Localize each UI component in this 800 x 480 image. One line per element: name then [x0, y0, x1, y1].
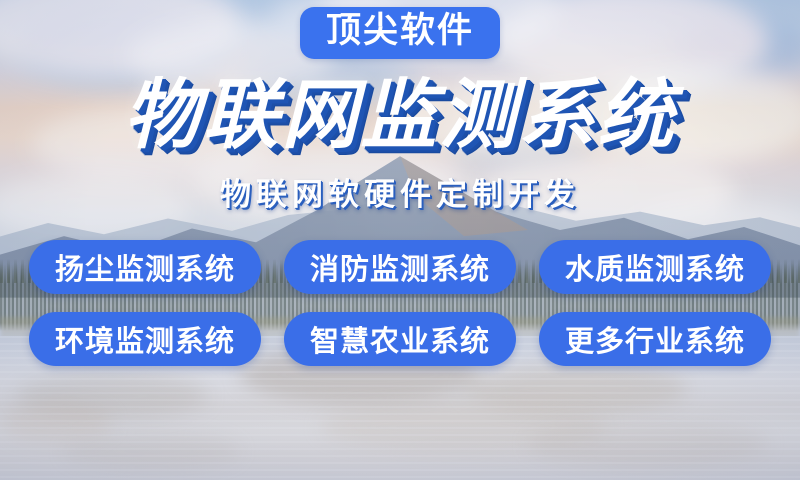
page-subtitle: 物联网软硬件定制开发 [220, 169, 580, 214]
banner-content: 顶尖软件 物联网监测系统 物联网软硬件定制开发 扬尘监测系统 消防监测系统 水质… [0, 0, 800, 480]
brand-badge: 顶尖软件 [300, 7, 500, 59]
pill-smart-agriculture[interactable]: 智慧农业系统 [284, 312, 516, 366]
pill-fire-monitoring[interactable]: 消防监测系统 [284, 240, 516, 294]
pill-more-industry-systems[interactable]: 更多行业系统 [539, 312, 771, 366]
pill-dust-monitoring[interactable]: 扬尘监测系统 [29, 240, 261, 294]
system-pill-grid: 扬尘监测系统 消防监测系统 水质监测系统 环境监测系统 智慧农业系统 更多行业系… [29, 240, 771, 366]
pill-water-quality-monitoring[interactable]: 水质监测系统 [539, 240, 771, 294]
pill-row: 环境监测系统 智慧农业系统 更多行业系统 [29, 312, 771, 366]
page-title: 物联网监测系统 [124, 77, 677, 153]
pill-environment-monitoring[interactable]: 环境监测系统 [29, 312, 261, 366]
promo-banner: 顶尖软件 物联网监测系统 物联网软硬件定制开发 扬尘监测系统 消防监测系统 水质… [0, 0, 800, 480]
pill-row: 扬尘监测系统 消防监测系统 水质监测系统 [29, 240, 771, 294]
